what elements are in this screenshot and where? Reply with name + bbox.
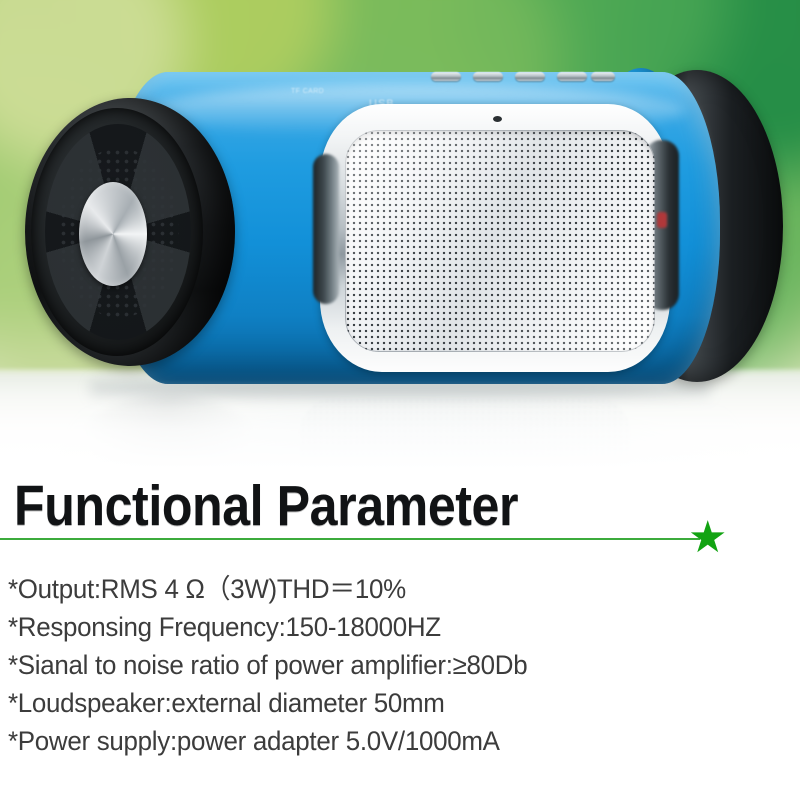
spec-section: Functional Parameter ★ *Output:RMS 4 Ω（3… (0, 470, 800, 800)
control-button-5[interactable] (591, 72, 615, 81)
spec-item-frequency: *Responsing Frequency:150-18000HZ (8, 608, 766, 646)
product-photo: TF CARD USB (0, 0, 800, 470)
spec-item-output: *Output:RMS 4 Ω（3W)THD＝10% (8, 570, 766, 608)
power-indicator-led (657, 212, 667, 228)
control-button-1[interactable] (431, 72, 461, 81)
spec-item-loudspeaker: *Loudspeaker:external diameter 50mm (8, 684, 766, 722)
left-endcap-metal-cone (79, 182, 147, 286)
speaker-grille (345, 130, 655, 352)
top-label-tf-card: TF CARD (291, 88, 324, 95)
spec-item-power: *Power supply:power adapter 5.0V/1000mA (8, 722, 766, 760)
spec-item-snr: *Sianal to noise ratio of power amplifie… (8, 646, 766, 684)
green-rule-line (0, 538, 700, 540)
product-spec-page: TF CARD USB Functional Parameter ★ (0, 0, 800, 800)
spec-list: *Output:RMS 4 Ω（3W)THD＝10% *Responsing F… (8, 570, 798, 760)
top-control-buttons[interactable]: TF CARD USB (431, 70, 621, 86)
page-title: Functional Parameter (14, 475, 518, 537)
bezel-shadow-left (313, 154, 339, 304)
star-icon: ★ (688, 521, 724, 557)
control-button-4[interactable] (557, 72, 587, 81)
bluetooth-speaker: TF CARD USB (25, 62, 780, 392)
control-button-2[interactable] (473, 72, 503, 81)
microphone-pinhole (493, 116, 502, 122)
control-button-3[interactable] (515, 72, 545, 81)
photo-bottom-fade (0, 380, 800, 470)
